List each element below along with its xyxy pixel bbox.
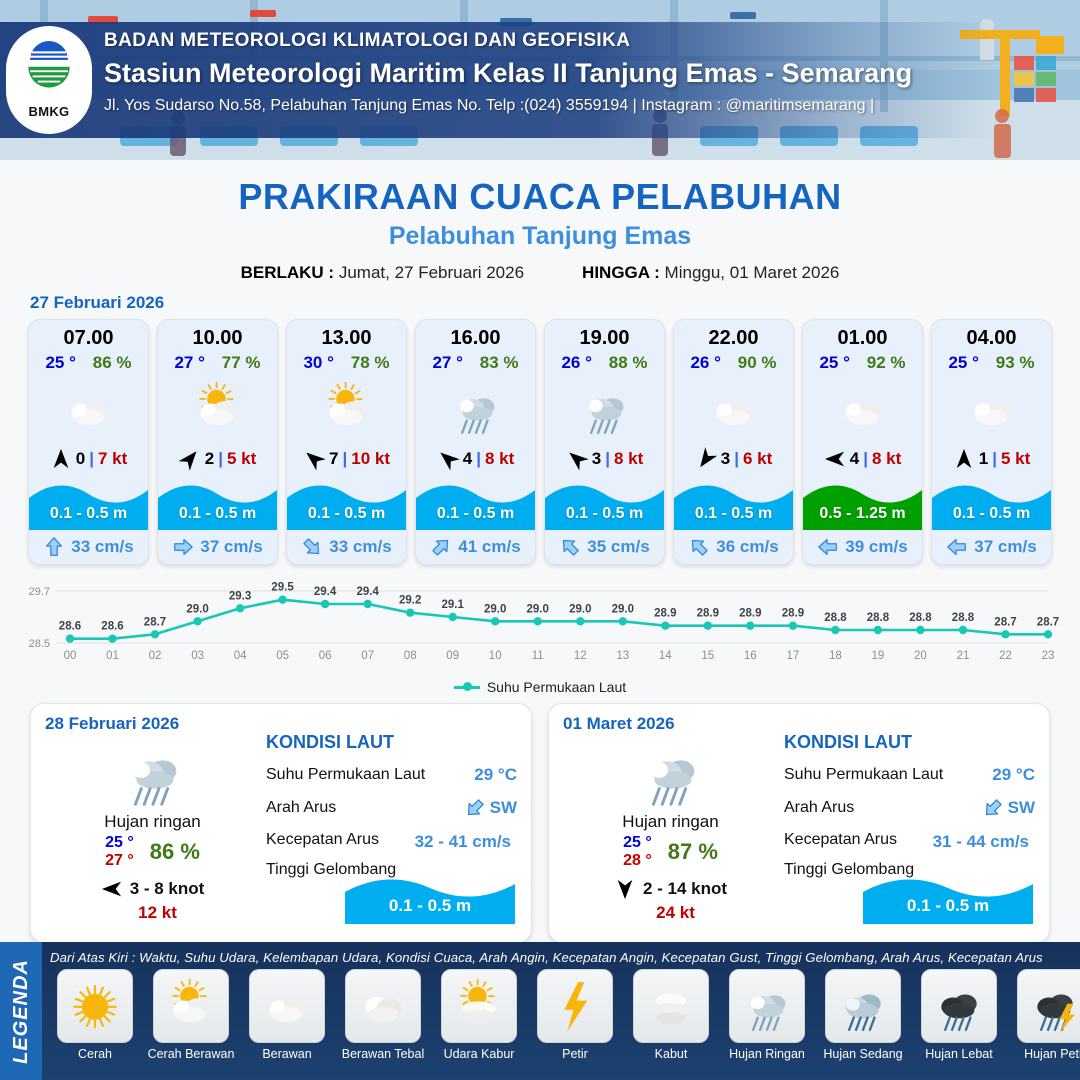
forecast-weather-icon xyxy=(29,376,148,442)
svg-text:28.7: 28.7 xyxy=(1037,616,1059,628)
legend-item-label: Hujan Petir xyxy=(1010,1047,1080,1061)
panel-current-dir-label: Arah Arus xyxy=(266,799,464,817)
sst-chart: 29.728.528.60028.60128.70229.00329.30429… xyxy=(18,577,1062,677)
svg-text:14: 14 xyxy=(659,650,672,662)
forecast-wind-row: 0 | 7 kt xyxy=(29,442,148,476)
hujan-ringan-icon xyxy=(115,736,191,812)
svg-text:29.5: 29.5 xyxy=(271,582,294,594)
forecast-wind-dir-value: 7 xyxy=(329,449,338,469)
legend-item: Berawan Tebal xyxy=(338,969,428,1061)
current-direction-arrow xyxy=(459,792,490,823)
berawan-icon xyxy=(704,379,764,439)
panel-temp-max: 28 ° xyxy=(623,852,652,870)
panel-date: 01 Maret 2026 xyxy=(563,714,778,734)
berawan-icon xyxy=(257,976,317,1036)
forecast-temperature: 26 ° xyxy=(690,353,720,373)
svg-text:29.4: 29.4 xyxy=(314,586,337,598)
legend-item-icon xyxy=(441,969,517,1043)
wind-separator: | xyxy=(89,449,94,469)
svg-text:28.9: 28.9 xyxy=(739,608,761,620)
hujan-ringan-icon xyxy=(633,736,709,812)
legend-item: Berawan xyxy=(242,969,332,1061)
svg-text:29.0: 29.0 xyxy=(484,603,506,615)
legend-item-label: Hujan Lebat xyxy=(914,1047,1004,1061)
page-subtitle: Pelabuhan Tanjung Emas xyxy=(0,222,1080,251)
forecast-time: 19.00 xyxy=(545,320,664,352)
forecast-wave-height: 0.1 - 0.5 m xyxy=(158,505,277,523)
svg-text:12: 12 xyxy=(574,650,587,662)
forecast-temp-humidity-row: 26 ° 88 % xyxy=(545,352,664,376)
forecast-current-row: 37 cm/s xyxy=(158,530,277,564)
panel-left: 01 Maret 2026 Hujan ringan 25 ° 28 ° 87 … xyxy=(563,714,778,930)
forecast-current-speed: 35 cm/s xyxy=(587,537,649,557)
svg-text:29.1: 29.1 xyxy=(442,599,465,611)
forecast-wind-row: 3 | 8 kt xyxy=(545,442,664,476)
forecast-temp-humidity-row: 25 ° 86 % xyxy=(29,352,148,376)
forecast-temp-humidity-row: 27 ° 83 % xyxy=(416,352,535,376)
petir-icon xyxy=(545,976,605,1036)
forecast-current-speed: 33 cm/s xyxy=(71,537,133,557)
forecast-current-speed: 36 cm/s xyxy=(716,537,778,557)
panel-wind-range: 3 - 8 knot xyxy=(130,879,205,899)
forecast-wind-dir-value: 3 xyxy=(721,449,730,469)
legend-item-icon xyxy=(633,969,709,1043)
forecast-temperature: 25 ° xyxy=(819,353,849,373)
panel-sst-row: Suhu Permukaan Laut 29 °C xyxy=(784,765,1035,785)
svg-text:16: 16 xyxy=(744,650,757,662)
panel-temp-min: 25 ° xyxy=(105,834,134,852)
forecast-wave-height: 0.1 - 0.5 m xyxy=(674,505,793,523)
panel-wave-block: 0.1 - 0.5 m xyxy=(345,870,515,924)
panel-weather-icon xyxy=(45,736,260,808)
svg-text:29.3: 29.3 xyxy=(229,590,251,602)
svg-text:29.4: 29.4 xyxy=(357,586,380,598)
panel-sea-heading: KONDISI LAUT xyxy=(784,732,1035,753)
forecast-wave-height: 0.1 - 0.5 m xyxy=(545,505,664,523)
legend-item-icon xyxy=(729,969,805,1043)
forecast-wave-block: 0.1 - 0.5 m xyxy=(932,476,1051,530)
hujan-petir-icon xyxy=(1025,976,1080,1036)
forecast-wave-height: 0.5 - 1.25 m xyxy=(803,505,922,523)
forecast-weather-icon xyxy=(803,376,922,442)
forecast-wave-block: 0.1 - 0.5 m xyxy=(416,476,535,530)
berawan-tebal-icon xyxy=(353,976,413,1036)
forecast-time: 07.00 xyxy=(29,320,148,352)
forecast-weather-icon xyxy=(545,376,664,442)
panel-wind-row: 2 - 14 knot xyxy=(563,878,778,900)
wind-direction-arrow xyxy=(953,448,975,470)
daily-summary-panel: 28 Februari 2026 Hujan ringan 25 ° 27 ° … xyxy=(30,703,532,943)
svg-text:05: 05 xyxy=(276,650,289,662)
forecast-temperature: 27 ° xyxy=(432,353,462,373)
panel-wind-range: 2 - 14 knot xyxy=(643,879,727,899)
legend-item-label: Kabut xyxy=(626,1047,716,1061)
legend-item: Hujan Lebat xyxy=(914,969,1004,1061)
svg-text:29.7: 29.7 xyxy=(29,586,50,598)
forecast-temperature: 27 ° xyxy=(174,353,204,373)
forecast-current-speed: 41 cm/s xyxy=(458,537,520,557)
hujan-ringan-icon xyxy=(446,379,506,439)
panel-right: KONDISI LAUT Suhu Permukaan Laut 29 °C A… xyxy=(260,714,517,930)
svg-text:28.8: 28.8 xyxy=(909,612,932,624)
forecast-current-row: 41 cm/s xyxy=(416,530,535,564)
valid-until-label: HINGGA : xyxy=(582,263,660,282)
cerah-icon xyxy=(65,976,125,1036)
wind-direction-arrow xyxy=(174,444,205,475)
panel-condition: Hujan ringan xyxy=(563,812,778,832)
legend-item-icon xyxy=(345,969,421,1043)
header-banner: BMKG BADAN METEOROLOGI KLIMATOLOGI DAN G… xyxy=(0,0,1080,160)
current-direction-arrow xyxy=(684,531,715,562)
svg-text:18: 18 xyxy=(829,650,842,662)
forecast-temperature: 25 ° xyxy=(948,353,978,373)
panel-wind-row: 3 - 8 knot xyxy=(45,878,260,900)
forecast-wind-row: 7 | 10 kt xyxy=(287,442,406,476)
current-direction-arrow xyxy=(426,531,457,562)
svg-text:08: 08 xyxy=(404,650,417,662)
panel-temp-block: 25 ° 27 ° 86 % xyxy=(45,834,260,870)
forecast-temp-humidity-row: 25 ° 93 % xyxy=(932,352,1051,376)
forecast-current-row: 36 cm/s xyxy=(674,530,793,564)
panel-temp-block: 25 ° 28 ° 87 % xyxy=(563,834,778,870)
cerah-berawan-icon xyxy=(317,379,377,439)
wind-separator: | xyxy=(734,449,739,469)
panel-current-dir-row: Arah Arus SW xyxy=(266,797,517,819)
wind-separator: | xyxy=(476,449,481,469)
svg-text:03: 03 xyxy=(191,650,204,662)
forecast-humidity: 88 % xyxy=(609,353,648,373)
forecast-current-speed: 37 cm/s xyxy=(200,537,262,557)
forecast-humidity: 78 % xyxy=(351,353,390,373)
hujan-lebat-icon xyxy=(929,976,989,1036)
wind-direction-arrow xyxy=(432,444,463,475)
forecast-temp-humidity-row: 27 ° 77 % xyxy=(158,352,277,376)
forecast-weather-icon xyxy=(674,376,793,442)
forecast-current-speed: 39 cm/s xyxy=(845,537,907,557)
svg-text:20: 20 xyxy=(914,650,927,662)
kabut-icon xyxy=(641,976,701,1036)
panel-sst-label: Suhu Permukaan Laut xyxy=(266,766,474,784)
legend-icon-list: Cerah Cerah Berawan Berawan Berawan Teba… xyxy=(46,969,1080,1061)
forecast-time: 16.00 xyxy=(416,320,535,352)
bmkg-logo-text: BMKG xyxy=(29,104,70,119)
legend-item: Udara Kabur xyxy=(434,969,524,1061)
legend-bar: LEGENDA Dari Atas Kiri : Waktu, Suhu Uda… xyxy=(0,942,1080,1080)
wind-direction-arrow xyxy=(50,448,72,470)
panel-right: KONDISI LAUT Suhu Permukaan Laut 29 °C A… xyxy=(778,714,1035,930)
wind-separator: | xyxy=(605,449,610,469)
svg-text:13: 13 xyxy=(616,650,629,662)
panel-current-dir-value: SW xyxy=(982,797,1035,819)
forecast-wind-dir-value: 0 xyxy=(76,449,85,469)
panel-gust: 12 kt xyxy=(45,903,260,923)
svg-text:28.9: 28.9 xyxy=(654,608,676,620)
valid-from-label: BERLAKU : xyxy=(241,263,335,282)
forecast-time: 22.00 xyxy=(674,320,793,352)
wind-direction-arrow xyxy=(299,444,330,475)
panel-condition: Hujan ringan xyxy=(45,812,260,832)
station-address: Jl. Yos Sudarso No.58, Pelabuhan Tanjung… xyxy=(104,97,1064,115)
forecast-wave-block: 0.5 - 1.25 m xyxy=(803,476,922,530)
cerah-berawan-icon xyxy=(161,976,221,1036)
svg-text:29.0: 29.0 xyxy=(569,603,591,615)
svg-text:19: 19 xyxy=(872,650,885,662)
wind-direction-arrow xyxy=(561,444,592,475)
wind-separator: | xyxy=(863,449,868,469)
forecast-current-row: 35 cm/s xyxy=(545,530,664,564)
panel-wave-block: 0.1 - 0.5 m xyxy=(863,870,1033,924)
forecast-time: 10.00 xyxy=(158,320,277,352)
panel-left: 28 Februari 2026 Hujan ringan 25 ° 27 ° … xyxy=(45,714,260,930)
legend-item-label: Hujan Ringan xyxy=(722,1047,812,1061)
forecast-time: 01.00 xyxy=(803,320,922,352)
legend-item-icon xyxy=(921,969,997,1043)
forecast-day-label: 27 Februari 2026 xyxy=(30,293,1080,313)
current-direction-arrow xyxy=(946,536,968,558)
svg-text:28.9: 28.9 xyxy=(697,608,719,620)
forecast-wind-row: 3 | 6 kt xyxy=(674,442,793,476)
berawan-icon xyxy=(59,379,119,439)
svg-text:17: 17 xyxy=(787,650,800,662)
forecast-wind-dir-value: 4 xyxy=(850,449,859,469)
svg-text:28.6: 28.6 xyxy=(101,621,123,633)
panel-current-speed-value: 32 - 41 cm/s xyxy=(415,832,511,852)
wind-separator: | xyxy=(342,449,347,469)
forecast-current-row: 39 cm/s xyxy=(803,530,922,564)
forecast-wind-dir-value: 2 xyxy=(205,449,214,469)
svg-text:01: 01 xyxy=(106,650,119,662)
legend-item: Kabut xyxy=(626,969,716,1061)
forecast-card-row: 07.00 25 ° 86 % 0 | 7 kt 0.1 - 0.5 m 33 … xyxy=(0,319,1080,565)
legend-item: Hujan Ringan xyxy=(722,969,812,1061)
forecast-wave-block: 0.1 - 0.5 m xyxy=(29,476,148,530)
hujan-ringan-icon xyxy=(737,976,797,1036)
forecast-temp-humidity-row: 25 ° 92 % xyxy=(803,352,922,376)
forecast-temp-humidity-row: 30 ° 78 % xyxy=(287,352,406,376)
legend-item-label: Petir xyxy=(530,1047,620,1061)
svg-text:22: 22 xyxy=(999,650,1012,662)
wind-separator: | xyxy=(992,449,997,469)
forecast-wind-row: 4 | 8 kt xyxy=(803,442,922,476)
legend-item-label: Hujan Sedang xyxy=(818,1047,908,1061)
legend-item-label: Udara Kabur xyxy=(434,1047,524,1061)
svg-text:02: 02 xyxy=(149,650,162,662)
forecast-wave-block: 0.1 - 0.5 m xyxy=(287,476,406,530)
panel-sst-value: 29 °C xyxy=(992,765,1035,785)
forecast-current-speed: 33 cm/s xyxy=(329,537,391,557)
agency-name: BADAN METEOROLOGI KLIMATOLOGI DAN GEOFIS… xyxy=(104,30,1064,52)
svg-text:28.8: 28.8 xyxy=(867,612,890,624)
svg-text:29.0: 29.0 xyxy=(612,603,634,615)
forecast-wind-dir-value: 3 xyxy=(592,449,601,469)
svg-text:28.7: 28.7 xyxy=(994,616,1016,628)
forecast-weather-icon xyxy=(287,376,406,442)
forecast-wind-row: 4 | 8 kt xyxy=(416,442,535,476)
valid-from: BERLAKU : Jumat, 27 Februari 2026 xyxy=(241,263,524,283)
panel-current-speed-value: 31 - 44 cm/s xyxy=(933,832,1029,852)
forecast-card: 13.00 30 ° 78 % 7 | 10 kt 0.1 - 0.5 m 33… xyxy=(286,319,407,565)
daily-summary-row: 28 Februari 2026 Hujan ringan 25 ° 27 ° … xyxy=(0,695,1080,943)
forecast-current-row: 37 cm/s xyxy=(932,530,1051,564)
svg-text:09: 09 xyxy=(446,650,459,662)
legend-item-label: Berawan Tebal xyxy=(338,1047,428,1061)
forecast-humidity: 92 % xyxy=(867,353,906,373)
valid-until-value: Minggu, 01 Maret 2026 xyxy=(665,263,840,282)
forecast-wind-row: 1 | 5 kt xyxy=(932,442,1051,476)
panel-temp-min: 25 ° xyxy=(623,834,652,852)
forecast-wind-speed: 8 kt xyxy=(485,449,514,469)
legend-item: Hujan Petir xyxy=(1010,969,1080,1061)
wind-direction-arrow xyxy=(101,878,123,900)
panel-humidity: 87 % xyxy=(668,839,718,865)
forecast-wind-dir-value: 1 xyxy=(979,449,988,469)
valid-from-value: Jumat, 27 Februari 2026 xyxy=(339,263,524,282)
panel-gust: 24 kt xyxy=(563,903,778,923)
forecast-weather-icon xyxy=(932,376,1051,442)
panel-current-dir-row: Arah Arus SW xyxy=(784,797,1035,819)
forecast-wave-height: 0.1 - 0.5 m xyxy=(932,505,1051,523)
current-direction-arrow xyxy=(297,531,328,562)
panel-sst-row: Suhu Permukaan Laut 29 °C xyxy=(266,765,517,785)
svg-text:28.6: 28.6 xyxy=(59,621,81,633)
svg-text:21: 21 xyxy=(957,650,970,662)
forecast-card: 22.00 26 ° 90 % 3 | 6 kt 0.1 - 0.5 m 36 … xyxy=(673,319,794,565)
legend-item: Petir xyxy=(530,969,620,1061)
legend-item: Cerah xyxy=(50,969,140,1061)
forecast-humidity: 86 % xyxy=(93,353,132,373)
svg-text:29.0: 29.0 xyxy=(186,603,208,615)
legend-side-title: LEGENDA xyxy=(10,959,33,1064)
svg-text:07: 07 xyxy=(361,650,374,662)
valid-until: HINGGA : Minggu, 01 Maret 2026 xyxy=(582,263,839,283)
panel-humidity: 86 % xyxy=(150,839,200,865)
legend-item-label: Cerah Berawan xyxy=(146,1047,236,1061)
forecast-time: 13.00 xyxy=(287,320,406,352)
legend-item-icon xyxy=(153,969,229,1043)
forecast-temperature: 30 ° xyxy=(303,353,333,373)
forecast-wind-speed: 8 kt xyxy=(872,449,901,469)
svg-text:04: 04 xyxy=(234,650,247,662)
legend-side-tab: LEGENDA xyxy=(0,942,42,1080)
legend-item-icon xyxy=(1017,969,1080,1043)
station-name: Stasiun Meteorologi Maritim Kelas II Tan… xyxy=(104,58,1064,89)
forecast-weather-icon xyxy=(416,376,535,442)
panel-wave-value: 0.1 - 0.5 m xyxy=(863,896,1033,916)
cerah-berawan-icon xyxy=(188,379,248,439)
panel-current-dir-value: SW xyxy=(464,797,517,819)
svg-text:00: 00 xyxy=(64,650,77,662)
forecast-temperature: 25 ° xyxy=(45,353,75,373)
legend-item: Cerah Berawan xyxy=(146,969,236,1061)
forecast-wave-block: 0.1 - 0.5 m xyxy=(158,476,277,530)
svg-text:11: 11 xyxy=(532,650,544,662)
forecast-time: 04.00 xyxy=(932,320,1051,352)
legend-item-icon xyxy=(249,969,325,1043)
wind-direction-arrow xyxy=(690,444,721,475)
svg-text:28.8: 28.8 xyxy=(952,612,975,624)
panel-current-dir-label: Arah Arus xyxy=(784,799,982,817)
svg-text:10: 10 xyxy=(489,650,502,662)
svg-text:06: 06 xyxy=(319,650,332,662)
panel-weather-icon xyxy=(563,736,778,808)
current-direction-arrow xyxy=(43,536,65,558)
svg-text:29.0: 29.0 xyxy=(527,603,549,615)
berawan-icon xyxy=(833,379,893,439)
forecast-humidity: 83 % xyxy=(480,353,519,373)
forecast-humidity: 90 % xyxy=(738,353,777,373)
panel-sst-value: 29 °C xyxy=(474,765,517,785)
panel-wave-value: 0.1 - 0.5 m xyxy=(345,896,515,916)
legend-item-icon xyxy=(825,969,901,1043)
udara-kabur-icon xyxy=(449,976,509,1036)
berawan-icon xyxy=(962,379,1022,439)
wind-separator: | xyxy=(218,449,223,469)
panel-temp-max: 27 ° xyxy=(105,852,134,870)
page-title: PRAKIRAAN CUACA PELABUHAN xyxy=(0,176,1080,218)
current-direction-arrow xyxy=(555,531,586,562)
svg-text:28.5: 28.5 xyxy=(29,638,50,650)
wind-direction-arrow xyxy=(824,448,846,470)
forecast-wave-height: 0.1 - 0.5 m xyxy=(29,505,148,523)
forecast-humidity: 77 % xyxy=(222,353,261,373)
bmkg-logo-mark xyxy=(23,41,75,103)
forecast-current-row: 33 cm/s xyxy=(29,530,148,564)
panel-date: 28 Februari 2026 xyxy=(45,714,260,734)
hujan-ringan-icon xyxy=(575,379,635,439)
legend-item-icon xyxy=(57,969,133,1043)
legend-item-label: Berawan xyxy=(242,1047,332,1061)
forecast-current-speed: 37 cm/s xyxy=(974,537,1036,557)
current-direction-arrow xyxy=(817,536,839,558)
forecast-current-row: 33 cm/s xyxy=(287,530,406,564)
daily-summary-panel: 01 Maret 2026 Hujan ringan 25 ° 28 ° 87 … xyxy=(548,703,1050,943)
forecast-card: 04.00 25 ° 93 % 1 | 5 kt 0.1 - 0.5 m 37 … xyxy=(931,319,1052,565)
hujan-sedang-icon xyxy=(833,976,893,1036)
forecast-wave-block: 0.1 - 0.5 m xyxy=(674,476,793,530)
svg-text:28.7: 28.7 xyxy=(144,616,166,628)
chart-legend-swatch xyxy=(454,686,480,689)
bmkg-logo: BMKG xyxy=(6,26,92,134)
forecast-temp-humidity-row: 26 ° 90 % xyxy=(674,352,793,376)
forecast-card: 01.00 25 ° 92 % 4 | 8 kt 0.5 - 1.25 m 39… xyxy=(802,319,923,565)
svg-text:29.2: 29.2 xyxy=(399,595,421,607)
forecast-wind-speed: 5 kt xyxy=(1001,449,1030,469)
panel-sea-heading: KONDISI LAUT xyxy=(266,732,517,753)
legend-item-label: Cerah xyxy=(50,1047,140,1061)
wind-direction-arrow xyxy=(614,878,636,900)
forecast-wind-row: 2 | 5 kt xyxy=(158,442,277,476)
forecast-humidity: 93 % xyxy=(996,353,1035,373)
chart-legend-label: Suhu Permukaan Laut xyxy=(487,679,626,695)
forecast-card: 10.00 27 ° 77 % 2 | 5 kt 0.1 - 0.5 m 37 … xyxy=(157,319,278,565)
forecast-wind-speed: 6 kt xyxy=(743,449,772,469)
current-direction-arrow xyxy=(172,536,194,558)
forecast-weather-icon xyxy=(158,376,277,442)
forecast-wind-speed: 5 kt xyxy=(227,449,256,469)
panel-sst-label: Suhu Permukaan Laut xyxy=(784,766,992,784)
forecast-wind-speed: 10 kt xyxy=(351,449,390,469)
chart-legend: Suhu Permukaan Laut xyxy=(0,679,1080,695)
svg-text:23: 23 xyxy=(1042,650,1055,662)
forecast-temperature: 26 ° xyxy=(561,353,591,373)
svg-text:15: 15 xyxy=(701,650,714,662)
legend-item-icon xyxy=(537,969,613,1043)
forecast-wave-height: 0.1 - 0.5 m xyxy=(416,505,535,523)
svg-text:28.9: 28.9 xyxy=(782,608,804,620)
legend-item: Hujan Sedang xyxy=(818,969,908,1061)
legend-note: Dari Atas Kiri : Waktu, Suhu Udara, Kele… xyxy=(46,948,1080,969)
forecast-card: 19.00 26 ° 88 % 3 | 8 kt 0.1 - 0.5 m 35 … xyxy=(544,319,665,565)
